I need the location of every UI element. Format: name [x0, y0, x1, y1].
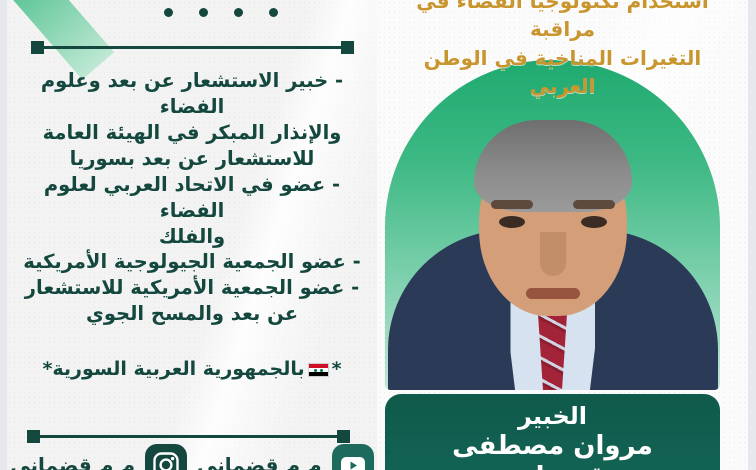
instagram-handle[interactable]: م م قضماني — [10, 453, 135, 470]
speaker-portrait-photo — [385, 60, 720, 390]
divider-bar — [44, 46, 341, 49]
credential-line: والفلك — [15, 224, 369, 250]
left-panel: - خبير الاستشعار عن بعد وعلوم الفضاء وال… — [7, 0, 377, 470]
dot — [164, 8, 173, 17]
portrait-eye-right — [581, 216, 607, 228]
instagram-icon[interactable] — [145, 444, 187, 470]
dot — [199, 8, 208, 17]
syria-flag-icon — [308, 363, 329, 377]
country-asterisk-end: * — [42, 358, 52, 380]
divider-cap-start — [337, 430, 350, 443]
dot — [234, 8, 243, 17]
portrait-nose — [540, 232, 566, 276]
divider-bar — [40, 435, 337, 438]
credential-line: - خبير الاستشعار عن بعد وعلوم الفضاء — [15, 68, 369, 120]
country-line: *بالجمهورية العربية السورية* — [15, 357, 369, 382]
headline-line: التغيرات المناخية في الوطن العربي — [391, 44, 734, 101]
portrait-eye-left — [499, 216, 525, 228]
country-text: بالجمهورية العربية السورية — [52, 358, 304, 380]
credential-line: - عضو الجمعية الأمريكية للاستشعار — [15, 275, 369, 301]
credential-line: عن بعد والمسح الجوي — [15, 301, 369, 327]
credentials-list: - خبير الاستشعار عن بعد وعلوم الفضاء وال… — [7, 68, 377, 401]
credential-line: والإنذار المبكر في الهيئة العامة — [15, 120, 369, 146]
divider-cap-start — [341, 41, 354, 54]
credential-line: - عضو الجمعية الجيولوجية الأمريكية — [15, 249, 369, 275]
dot — [269, 8, 278, 17]
headline: استخدام تكنولوجيا الفضاء في مراقبة التغي… — [377, 0, 748, 101]
divider-cap-end — [31, 41, 44, 54]
infographic-canvas: - خبير الاستشعار عن بعد وعلوم الفضاء وال… — [0, 0, 756, 470]
dot-grid-decoration — [164, 0, 278, 17]
portrait-mouth — [526, 288, 580, 299]
divider-top — [31, 41, 354, 54]
portrait-eyebrow-right — [573, 200, 615, 209]
divider-bottom — [27, 430, 350, 443]
name-banner: الخبير مروان مصطفى قضماني — [385, 394, 720, 470]
headline-line: استخدام تكنولوجيا الفضاء في مراقبة — [391, 0, 734, 44]
speaker-role: الخبير — [399, 403, 706, 430]
country-asterisk-start: * — [332, 358, 342, 380]
youtube-icon[interactable] — [332, 444, 374, 470]
divider-cap-end — [27, 430, 40, 443]
speaker-name: مروان مصطفى قضماني — [399, 431, 706, 470]
right-edge-margin — [748, 0, 756, 470]
portrait-eyebrow-left — [491, 200, 533, 209]
youtube-handle[interactable]: م م قضماني — [197, 453, 322, 470]
credential-line: للاستشعار عن بعد بسوريا — [15, 146, 369, 172]
right-panel: استخدام تكنولوجيا الفضاء في مراقبة التغي… — [377, 0, 748, 470]
portrait-hair — [474, 120, 632, 212]
left-edge-margin — [0, 0, 7, 470]
social-links-row: م م قضماني م م قضماني — [7, 444, 377, 470]
credential-line: - عضو في الاتحاد العربي لعلوم الفضاء — [15, 172, 369, 224]
